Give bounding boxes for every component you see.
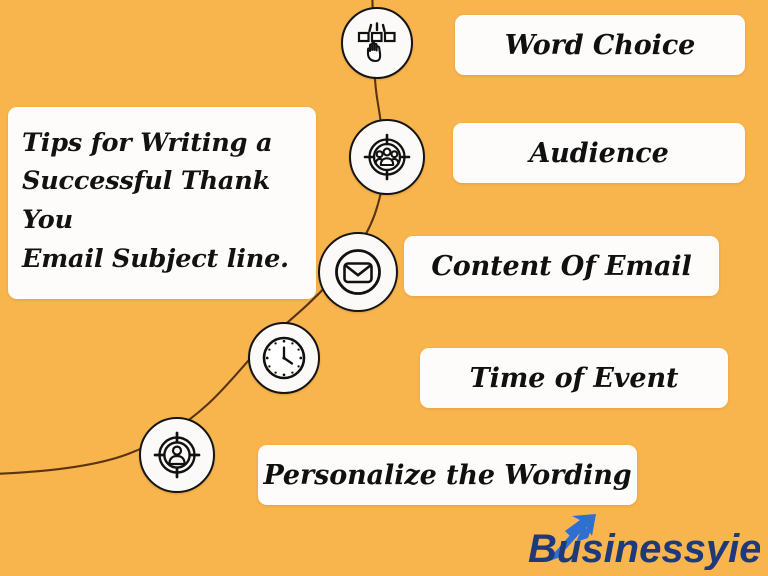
step-icon-node-word-choice[interactable] — [341, 7, 413, 79]
person-target-icon — [152, 430, 202, 480]
cursor-select-icon — [354, 20, 400, 66]
step-label: Content Of Email — [431, 251, 691, 282]
brand-logo[interactable]: Businessyield — [528, 512, 760, 570]
title-line-3: Email Subject line. — [22, 240, 302, 279]
step-panel-content-of-email[interactable]: Content Of Email — [404, 236, 719, 296]
clock-icon — [260, 334, 308, 382]
step-icon-node-personalize-the-wording[interactable] — [139, 417, 215, 493]
logo-svg: Businessyield — [528, 512, 760, 570]
title-panel: Tips for Writing a Successful Thank You … — [8, 107, 316, 299]
audience-target-icon — [362, 132, 412, 182]
step-panel-personalize-the-wording[interactable]: Personalize the Wording — [258, 445, 637, 505]
envelope-icon — [331, 245, 385, 299]
step-label: Personalize the Wording — [263, 460, 631, 491]
step-label: Audience — [529, 138, 668, 169]
step-label: Word Choice — [505, 30, 696, 61]
step-panel-audience[interactable]: Audience — [453, 123, 745, 183]
infographic-canvas: Tips for Writing a Successful Thank You … — [0, 0, 768, 576]
step-label: Time of Event — [470, 363, 679, 394]
title-line-2: Successful Thank You — [22, 162, 302, 240]
title-line-1: Tips for Writing a — [22, 124, 302, 163]
page-title: Tips for Writing a Successful Thank You … — [22, 124, 302, 279]
step-panel-time-of-event[interactable]: Time of Event — [420, 348, 728, 408]
step-panel-word-choice[interactable]: Word Choice — [455, 15, 745, 75]
step-icon-node-time-of-event[interactable] — [248, 322, 320, 394]
step-icon-node-audience[interactable] — [349, 119, 425, 195]
step-icon-node-content-of-email[interactable] — [318, 232, 398, 312]
logo-wordmark: Businessyield — [528, 527, 760, 570]
